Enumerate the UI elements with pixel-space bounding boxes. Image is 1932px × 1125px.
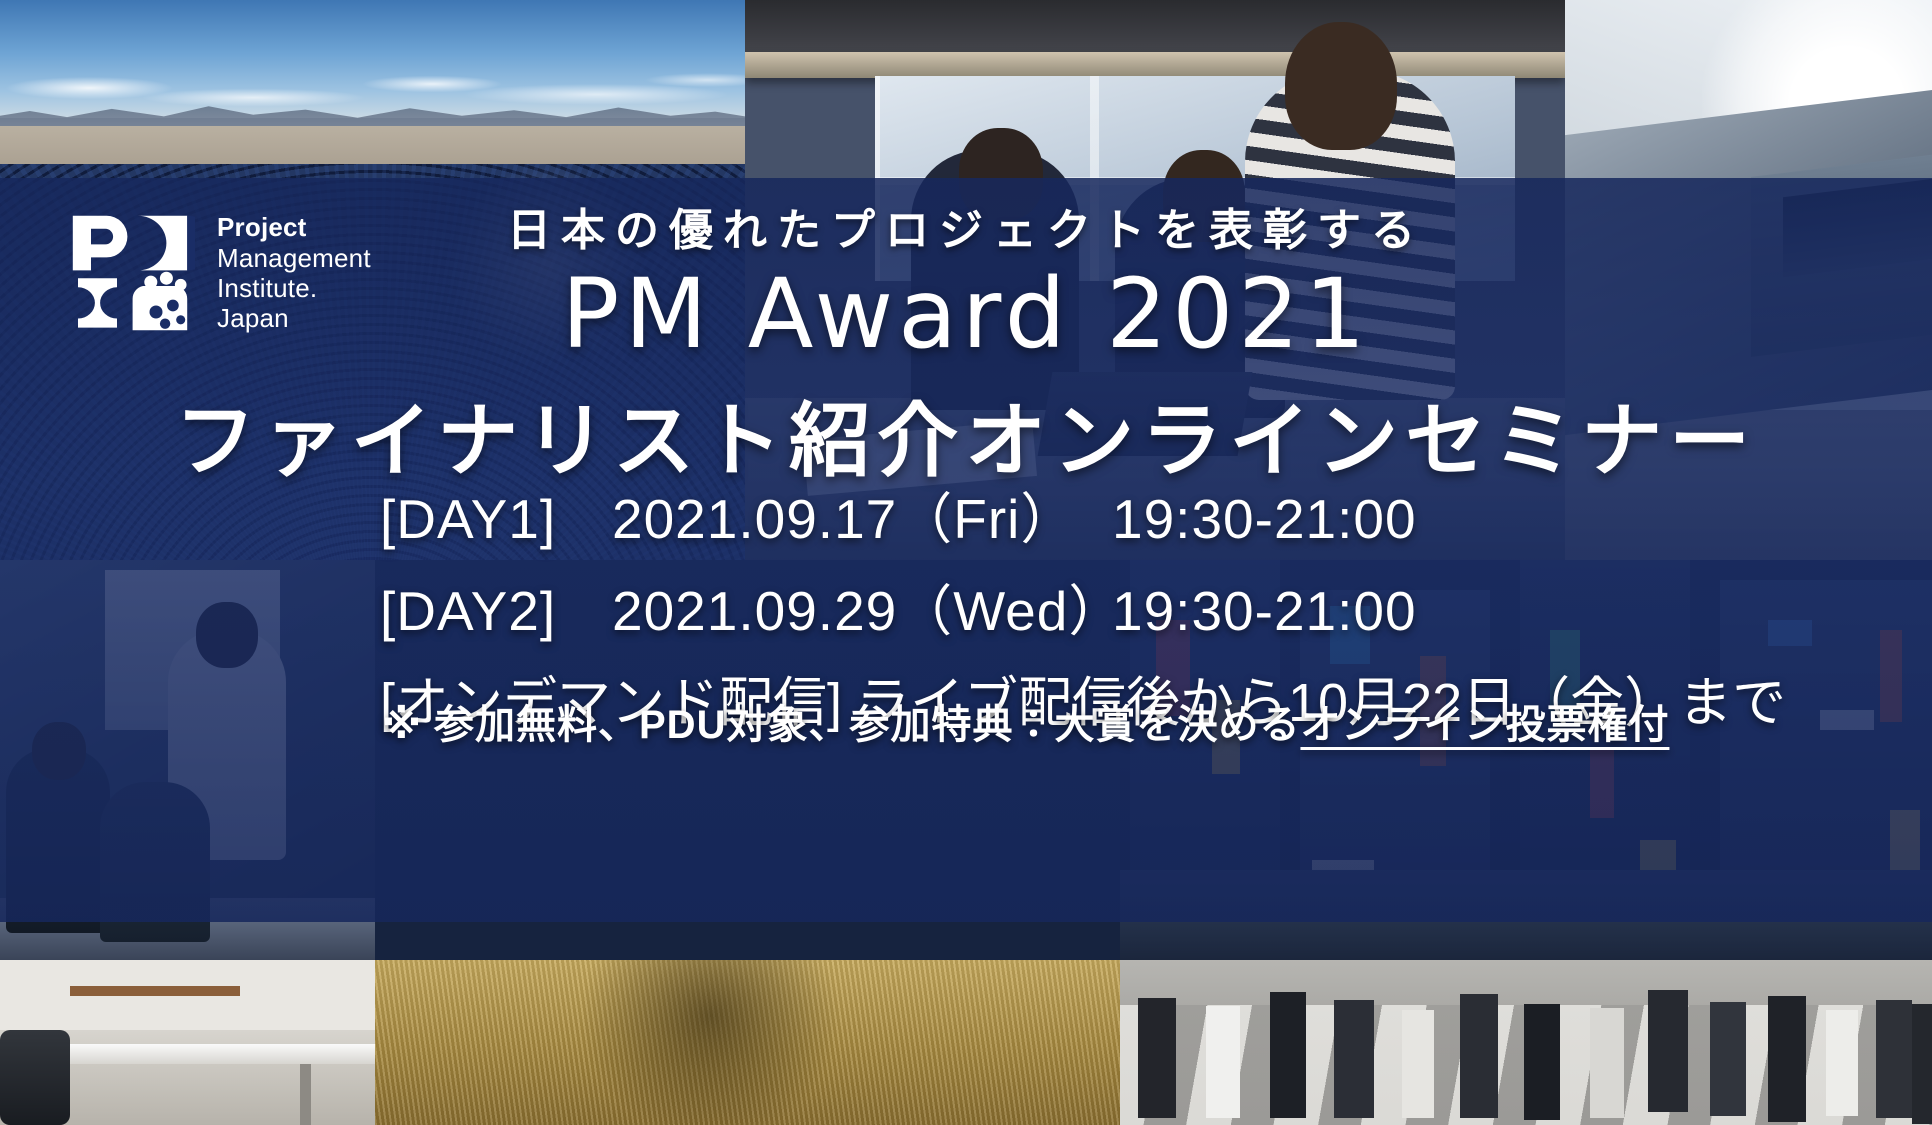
banner-content: Project Management Institute. Japan 日本の優…: [0, 178, 1932, 922]
note-prefix: ※ 参加無料、PDU対象、参加特典：大賞を決める: [382, 703, 1300, 747]
day1-label: [DAY1]: [380, 487, 612, 551]
shibuya-crosswalk-crowd-photo: [1120, 960, 1932, 1125]
hero-tagline: 日本の優れたプロジェクトを表彰する: [0, 194, 1932, 258]
day1-date: 2021.09.17（Fri）: [612, 474, 1112, 554]
note-emphasis: オンライン投票権付: [1300, 703, 1669, 747]
day2-label: [DAY2]: [380, 579, 612, 643]
wheat-field-photo: [375, 960, 1120, 1125]
participation-note: ※ 参加無料、PDU対象、参加特典：大賞を決めるオンライン投票権付: [382, 692, 1669, 750]
day1-time: 19:30-21:00: [1112, 487, 1417, 551]
office-desk-photo: [0, 960, 375, 1125]
hero-title: PM Award 2021: [0, 258, 1932, 370]
promo-banner: Project Management Institute. Japan 日本の優…: [0, 0, 1932, 1125]
schedule-row-day1: [DAY1] 2021.09.17（Fri） 19:30-21:00: [380, 474, 1860, 554]
day2-time: 19:30-21:00: [1112, 579, 1417, 643]
schedule-row-day2: [DAY2] 2021.09.29（Wed） 19:30-21:00: [380, 566, 1860, 646]
day2-date: 2021.09.29（Wed）: [612, 566, 1112, 646]
